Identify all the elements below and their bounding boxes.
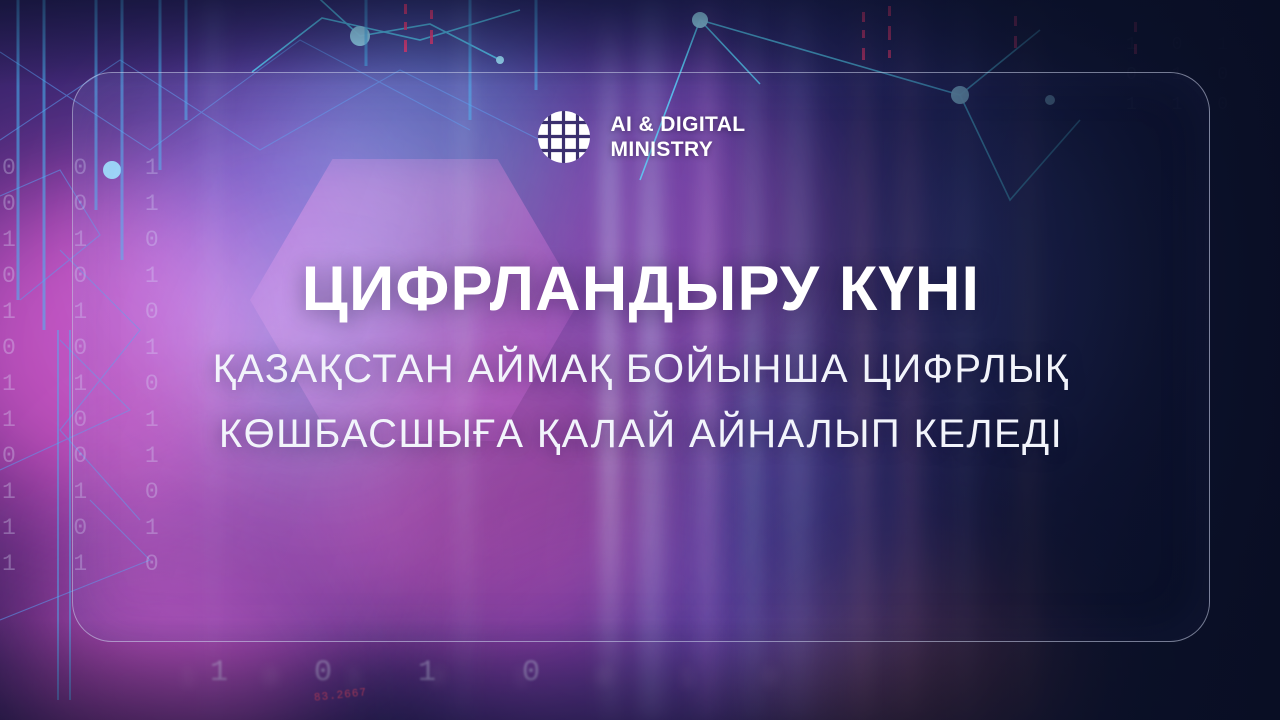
brand-name-line1: AI & DIGITAL <box>610 112 745 137</box>
content-card: AI & DIGITAL MINISTRY ЦИФРЛАНДЫРУ КҮНІ Қ… <box>72 72 1210 642</box>
headline-block: ЦИФРЛАНДЫРУ КҮНІ ҚАЗАҚСТАН АЙМАҚ БОЙЫНША… <box>73 257 1209 467</box>
slide-subtitle: ҚАЗАҚСТАН АЙМАҚ БОЙЫНША ЦИФРЛЫҚ КӨШБАСШЫ… <box>73 337 1209 467</box>
presentation-slide: 0 0 1 0 0 1 1 1 0 0 0 1 1 1 0 0 0 1 1 1 … <box>0 0 1280 720</box>
slide-subtitle-line2: КӨШБАСШЫҒА ҚАЛАЙ АЙНАЛЫП КЕЛЕДІ <box>73 402 1209 467</box>
binary-digits-bottom: 1 0 1 0 <box>210 655 574 691</box>
grid-globe-icon <box>536 109 592 165</box>
brand-logo: AI & DIGITAL MINISTRY <box>536 109 745 165</box>
brand-name-line2: MINISTRY <box>610 137 745 162</box>
brand-name: AI & DIGITAL MINISTRY <box>610 112 745 162</box>
slide-subtitle-line1: ҚАЗАҚСТАН АЙМАҚ БОЙЫНША ЦИФРЛЫҚ <box>73 337 1209 402</box>
slide-title: ЦИФРЛАНДЫРУ КҮНІ <box>73 257 1209 321</box>
